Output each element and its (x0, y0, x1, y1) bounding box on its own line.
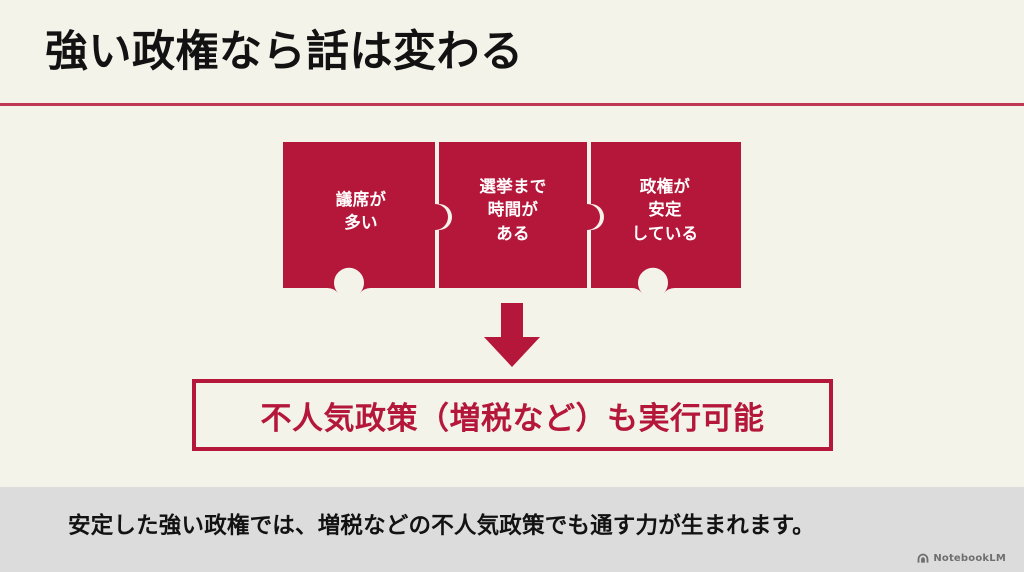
caption-bar: 安定した強い政権では、増税などの不人気政策でも通す力が生まれます。 Notebo… (0, 487, 1024, 572)
puzzle-diagram: 議席が 多い 選挙まで 時間が ある 政権が 安定 している (283, 142, 741, 312)
puzzle-shapes (283, 142, 741, 312)
notebooklm-logo-icon (917, 553, 929, 564)
title-divider (0, 103, 1024, 106)
watermark: NotebookLM (917, 553, 1006, 564)
watermark-label: NotebookLM (933, 553, 1006, 564)
arrow-down-icon (484, 303, 540, 367)
puzzle-piece-seats-shape[interactable] (283, 142, 448, 293)
puzzle-piece-time-shape[interactable] (439, 142, 600, 288)
caption-text: 安定した強い政権では、増税などの不人気政策でも通す力が生まれます。 (68, 508, 815, 540)
puzzle-piece-stability-shape[interactable] (591, 142, 741, 293)
result-text: 不人気政策（増税など）も実行可能 (261, 393, 765, 438)
slide-canvas: 強い政権なら話は変わる 議席が 多い 選挙まで 時間が ある 政権が 安定 して… (0, 0, 1024, 572)
result-callout-box: 不人気政策（増税など）も実行可能 (192, 379, 833, 451)
page-title: 強い政権なら話は変わる (45, 28, 524, 77)
